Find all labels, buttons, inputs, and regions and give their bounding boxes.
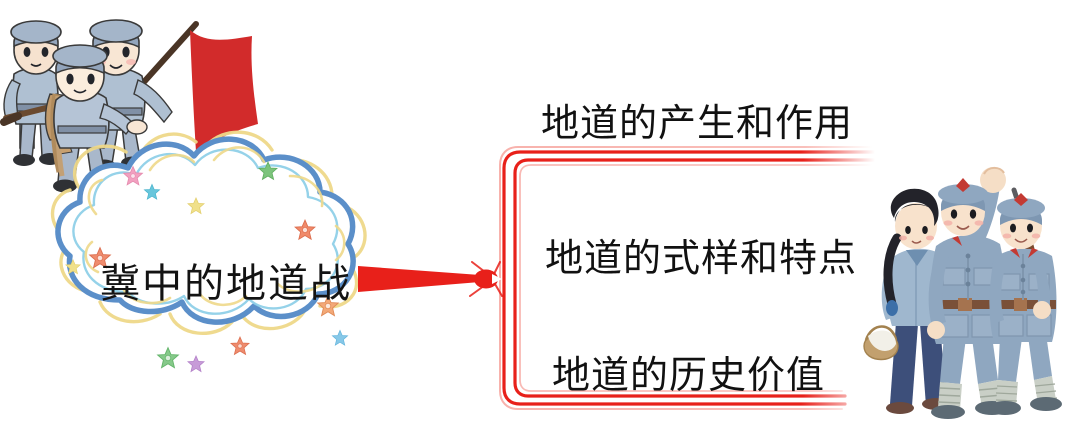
branch-label-2[interactable]: 地道的式样和特点 (545, 238, 857, 280)
branch-label-3[interactable]: 地道的历史价值 (552, 355, 825, 397)
center-topic-label[interactable]: 冀中的地道战 (100, 262, 352, 306)
soldier-with-rifle-figure (989, 190, 1062, 415)
mindmap-canvas: 冀中的地道战 地道的产生和作用 地道的式样和特点 地道的历史价值 (0, 0, 1080, 428)
right-illustration (0, 0, 1080, 428)
branch-label-1[interactable]: 地道的产生和作用 (541, 103, 853, 145)
